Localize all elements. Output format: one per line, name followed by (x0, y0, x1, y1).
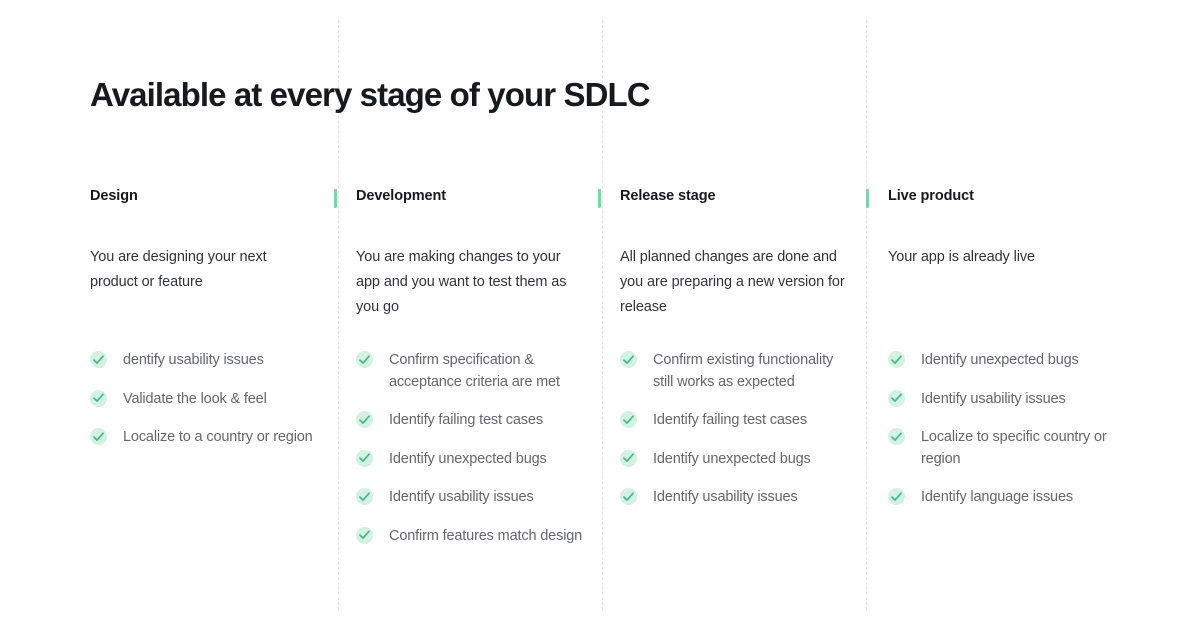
list-item: Identify usability issues (356, 487, 586, 509)
accent-bar (334, 189, 337, 208)
list-item: Localize to a country or region (90, 427, 320, 449)
stage-column-design: Design You are designing your next produ… (90, 186, 318, 295)
list-item-label: Confirm specification & acceptance crite… (389, 352, 560, 390)
stage-column-live-product: Live product Your app is already live Id… (888, 186, 1116, 270)
stage-title: Development (356, 186, 584, 206)
list-item: Localize to specific country or region (888, 427, 1118, 470)
stage-description: Your app is already live (888, 206, 1116, 270)
accent-bar (598, 189, 601, 208)
check-circle-icon (888, 351, 905, 368)
list-item-label: dentify usability issues (123, 352, 264, 368)
check-circle-icon (90, 428, 107, 445)
list-item: Identify failing test cases (356, 410, 586, 432)
list-item-label: Identify usability issues (389, 489, 534, 505)
stage-description: You are making changes to your app and y… (356, 206, 584, 320)
list-item-label: Identify failing test cases (653, 412, 807, 428)
infographic-page: Available at every stage of your SDLC De… (0, 0, 1200, 630)
stage-benefit-list: Confirm specification & acceptance crite… (356, 350, 586, 547)
list-item: Identify language issues (888, 487, 1118, 509)
stage-column-development: Development You are making changes to yo… (356, 186, 584, 320)
check-circle-icon (620, 450, 637, 467)
stage-benefit-list: Identify unexpected bugs Identify usabil… (888, 350, 1118, 509)
list-item-label: Identify language issues (921, 489, 1073, 505)
stage-benefit-list: dentify usability issues Validate the lo… (90, 350, 320, 449)
list-item: Confirm specification & acceptance crite… (356, 350, 586, 393)
check-circle-icon (356, 411, 373, 428)
check-circle-icon (620, 411, 637, 428)
check-circle-icon (888, 488, 905, 505)
list-item: dentify usability issues (90, 350, 320, 372)
list-item: Identify unexpected bugs (620, 449, 850, 471)
stage-description: You are designing your next product or f… (90, 206, 318, 295)
list-item-label: Localize to a country or region (123, 429, 313, 445)
list-item-label: Confirm features match design (389, 528, 582, 544)
list-item-label: Identify unexpected bugs (921, 352, 1079, 368)
list-item-label: Identify failing test cases (389, 412, 543, 428)
list-item-label: Localize to specific country or region (921, 429, 1107, 467)
list-item-label: Identify usability issues (921, 391, 1066, 407)
column-divider-3 (866, 20, 867, 610)
list-item: Confirm existing functionality still wor… (620, 350, 850, 393)
list-item-label: Identify unexpected bugs (653, 451, 811, 467)
list-item-label: Identify usability issues (653, 489, 798, 505)
stage-title: Design (90, 186, 318, 206)
check-circle-icon (356, 488, 373, 505)
list-item-label: Identify unexpected bugs (389, 451, 547, 467)
stage-description: All planned changes are done and you are… (620, 206, 848, 320)
check-circle-icon (888, 390, 905, 407)
check-circle-icon (90, 390, 107, 407)
check-circle-icon (356, 450, 373, 467)
page-title: Available at every stage of your SDLC (90, 74, 650, 116)
list-item: Identify unexpected bugs (356, 449, 586, 471)
list-item: Identify unexpected bugs (888, 350, 1118, 372)
check-circle-icon (620, 351, 637, 368)
check-circle-icon (620, 488, 637, 505)
stage-title: Release stage (620, 186, 848, 206)
accent-bar (866, 189, 869, 208)
stage-title: Live product (888, 186, 1116, 206)
stage-benefit-list: Confirm existing functionality still wor… (620, 350, 850, 509)
list-item-label: Confirm existing functionality still wor… (653, 352, 833, 390)
stage-column-release-stage: Release stage All planned changes are do… (620, 186, 848, 320)
check-circle-icon (90, 351, 107, 368)
check-circle-icon (888, 428, 905, 445)
check-circle-icon (356, 527, 373, 544)
list-item: Identify usability issues (888, 389, 1118, 411)
list-item: Identify failing test cases (620, 410, 850, 432)
list-item: Confirm features match design (356, 526, 586, 548)
list-item: Validate the look & feel (90, 389, 320, 411)
check-circle-icon (356, 351, 373, 368)
list-item-label: Validate the look & feel (123, 391, 267, 407)
list-item: Identify usability issues (620, 487, 850, 509)
